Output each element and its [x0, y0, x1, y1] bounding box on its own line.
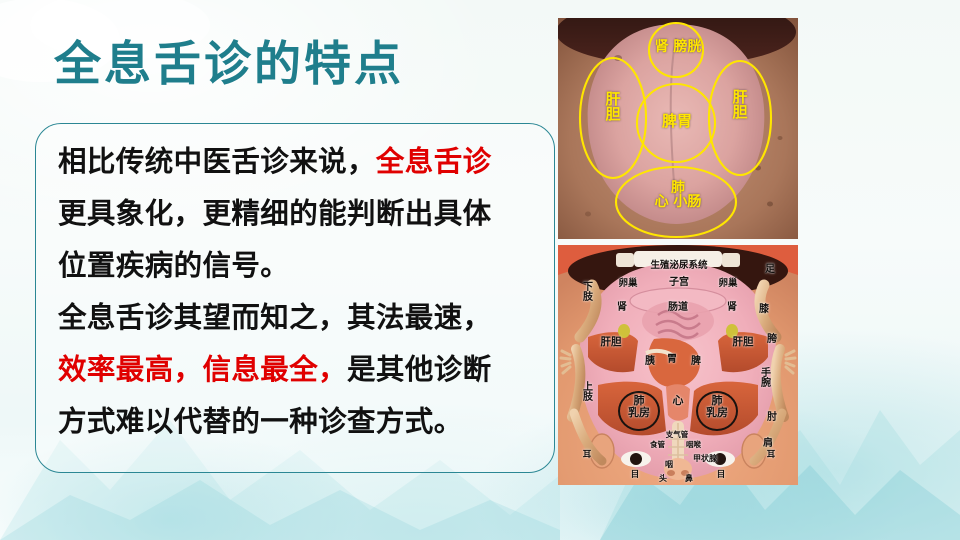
body-line-5: 效率最高，信息最全，是其他诊断	[58, 344, 548, 396]
body-line-2: 更具象化，更精细的能判断出具体	[58, 188, 548, 240]
organ-label-head: 头	[656, 475, 670, 483]
body-text: 相比传统中医舌诊来说，全息舌诊 更具象化，更精细的能判断出具体 位置疾病的信号。…	[58, 136, 548, 448]
body-line-3-seg-1: 位置疾病的信号。	[58, 250, 289, 282]
zone-label-spleen-stomach: 脾胃	[650, 114, 704, 129]
slide-canvas: 全息舌诊的特点 相比传统中医舌诊来说，全息舌诊 更具象化，更精细的能判断出具体 …	[0, 0, 960, 540]
organ-label-hip: 胯	[764, 333, 775, 343]
organ-label-liver-gallbladder-left: 肝胆	[594, 337, 628, 348]
organ-label-upper-limb: 上肢	[580, 381, 591, 401]
body-line-1-highlight: 全息舌诊	[376, 146, 492, 178]
organ-label-uterus: 子宫	[664, 278, 694, 289]
organ-label-knee: 膝	[756, 303, 767, 313]
organ-label-elbow: 肘	[764, 411, 775, 421]
organ-label-stomach: 胃	[664, 355, 680, 366]
organ-label-nose: 鼻	[682, 475, 696, 483]
organ-label-ear-right: 耳	[764, 451, 778, 460]
zone-label-liver-gallbladder-left: 肝 胆	[598, 92, 628, 123]
organ-label-pharynx: 咽	[662, 461, 676, 469]
organ-label-shoulder: 肩	[760, 437, 771, 447]
body-line-5-highlight: 效率最高，信息最全，	[58, 354, 347, 386]
organ-label-bronchus: 支气管	[656, 431, 698, 439]
organ-label-kidney-left: 肾	[614, 303, 630, 314]
organ-label-wrist: 手腕	[758, 367, 769, 387]
organ-label-eye-right: 目	[714, 471, 728, 480]
organ-label-lung-breast-left: 肺 乳房	[620, 395, 658, 418]
organ-label-esophagus: 食管	[650, 441, 664, 449]
tongue-zone-photo: 肾 膀胱 肝 胆 脾胃 肝 胆 肺 心 小肠	[558, 18, 798, 239]
organ-label-ovary-left: 卵巢	[614, 279, 642, 289]
organ-label-thyroid: 甲状腺	[688, 455, 722, 463]
body-line-6: 方式难以代替的一种诊查方式。	[58, 396, 548, 448]
organ-label-throat: 咽喉	[686, 441, 700, 449]
organ-label-intestine: 肠道	[662, 303, 694, 314]
zone-label-lung-heart-intestine: 肺 心 小肠	[636, 181, 720, 210]
zone-label-liver-gallbladder-right: 肝 胆	[725, 90, 755, 121]
zone-label-kidney-bladder: 肾 膀胱	[650, 40, 706, 54]
organ-label-ear-left: 耳	[580, 451, 594, 460]
organ-label-kidney-right: 肾	[724, 303, 740, 314]
organ-label-ovary-right: 卵巢	[714, 279, 742, 289]
organ-label-urogenital-system: 生殖泌尿系统	[634, 261, 724, 271]
body-line-2-seg-1: 更具象化，更精细的能判断出具体	[58, 198, 492, 230]
body-line-4: 全息舌诊其望而知之，其法最速，	[58, 292, 548, 344]
page-title: 全息舌诊的特点	[54, 34, 404, 94]
body-line-3: 位置疾病的信号。	[58, 240, 548, 292]
organ-label-lower-limb: 下肢	[580, 281, 591, 301]
body-line-6-seg-1: 方式难以代替的一种诊查方式。	[58, 406, 463, 438]
body-line-1-seg-1: 相比传统中医舌诊来说，	[58, 146, 376, 178]
organ-label-liver-gallbladder-right: 肝胆	[726, 337, 760, 348]
organ-label-heart: 心	[670, 395, 686, 407]
body-line-4-seg-1: 全息舌诊其望而知之，其法最速，	[58, 302, 492, 334]
organ-label-foot: 足	[762, 263, 773, 273]
organ-label-pancreas: 胰	[642, 357, 658, 368]
organ-label-lung-breast-right: 肺 乳房	[698, 395, 736, 418]
body-line-1: 相比传统中医舌诊来说，全息舌诊	[58, 136, 548, 188]
organ-label-eye-left: 目	[628, 471, 642, 480]
organ-label-spleen: 脾	[688, 357, 704, 368]
body-line-5-seg-2: 是其他诊断	[347, 354, 492, 386]
tongue-organ-map-photo: 生殖泌尿系统 卵巢 子宫 卵巢 肾 肠道 肾 肝胆 肝胆 胰 胃 脾 肺 乳房 …	[558, 245, 798, 485]
